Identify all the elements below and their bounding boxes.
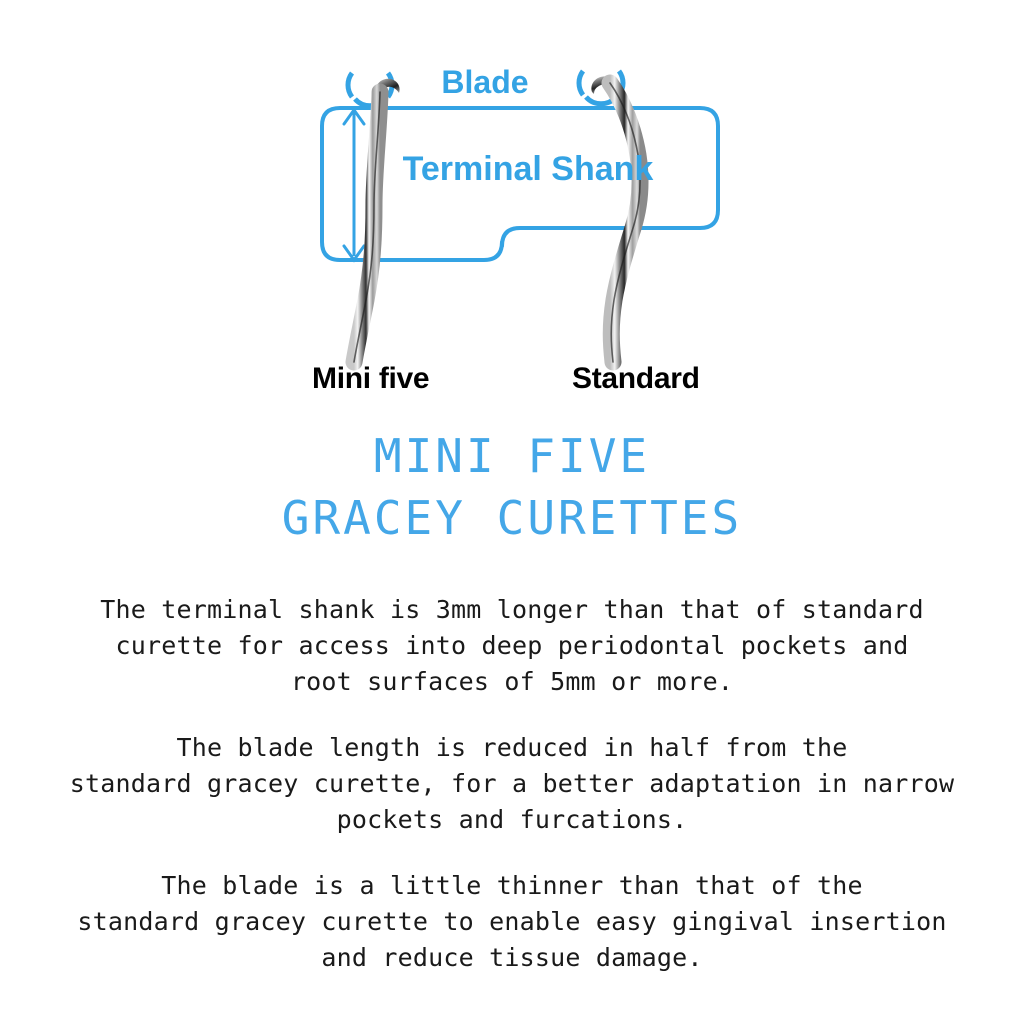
terminal-shank-paragraph: The terminal shank is 3mm longer than th… xyxy=(0,592,1024,700)
standard-shank xyxy=(610,83,640,362)
paragraph-line: The terminal shank is 3mm longer than th… xyxy=(6,592,1018,628)
title-line-1: MINI FIVE xyxy=(0,425,1024,487)
blade-circle-left-arc-a xyxy=(348,73,352,97)
paragraph-line: and reduce tissue damage. xyxy=(6,940,1018,976)
blade-thickness-paragraph: The blade is a little thinner than that … xyxy=(0,868,1024,976)
curette-comparison-diagram: Blade Terminal Shank Mini five Standard xyxy=(0,0,1024,410)
paragraph-line: curette for access into deep periodontal… xyxy=(6,628,1018,664)
instrument-label-standard: Standard xyxy=(572,362,700,396)
description-body: The terminal shank is 3mm longer than th… xyxy=(0,592,1024,976)
blade-circle-right-arc-a xyxy=(579,71,583,95)
page-title: MINI FIVE GRACEY CURETTES xyxy=(0,425,1024,549)
title-line-2: GRACEY CURETTES xyxy=(0,487,1024,549)
instrument-label-mini-five: Mini five xyxy=(312,362,429,396)
paragraph-line: The blade length is reduced in half from… xyxy=(6,730,1018,766)
paragraph-line: standard gracey curette, for a better ad… xyxy=(6,766,1018,802)
blade-annotation-label: Blade xyxy=(441,64,528,100)
blade-length-paragraph: The blade length is reduced in half from… xyxy=(0,730,1024,838)
paragraph-line: standard gracey curette to enable easy g… xyxy=(6,904,1018,940)
paragraph-line: root surfaces of 5mm or more. xyxy=(6,664,1018,700)
infographic-page: Blade Terminal Shank Mini five Standard … xyxy=(0,0,1024,1024)
paragraph-line: pockets and furcations. xyxy=(6,802,1018,838)
mini-five-shank xyxy=(354,92,380,362)
terminal-shank-annotation-label: Terminal Shank xyxy=(403,150,654,188)
paragraph-line: The blade is a little thinner than that … xyxy=(6,868,1018,904)
